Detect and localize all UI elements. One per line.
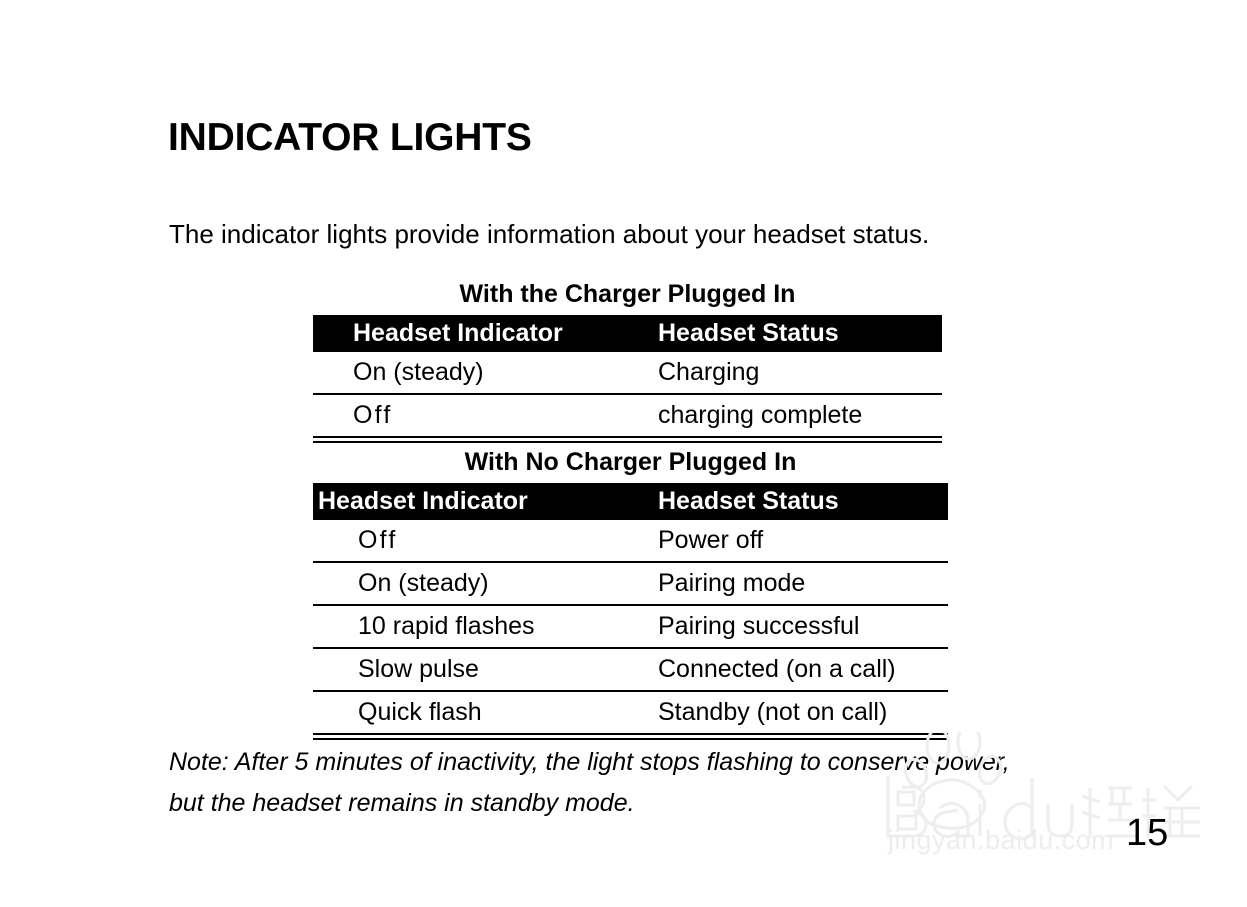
document-page: INDICATOR LIGHTS The indicator lights pr… [0, 0, 1247, 907]
table-caption: With No Charger Plugged In [313, 446, 948, 483]
cell-headset-status: Charging [658, 352, 942, 394]
cell-headset-indicator: On (steady) [313, 352, 658, 394]
table-caption: With the Charger Plugged In [313, 278, 942, 315]
table-bottom-rule [313, 733, 948, 740]
table-row: Off Power off [313, 520, 948, 562]
indicator-table: Headset Indicator Headset Status On (ste… [313, 315, 942, 437]
intro-paragraph: The indicator lights provide information… [169, 220, 929, 250]
page-number: 15 [1126, 814, 1168, 852]
indicator-table: Headset Indicator Headset Status Off Pow… [313, 483, 948, 734]
table-header-row: Headset Indicator Headset Status [313, 315, 942, 353]
table-row: Quick flash Standby (not on call) [313, 691, 948, 733]
column-header-headset-indicator: Headset Indicator [313, 315, 658, 353]
table-row: On (steady) Pairing mode [313, 562, 948, 605]
note-line-1: Note: After 5 minutes of inactivity, the… [169, 742, 1169, 783]
column-header-headset-status: Headset Status [658, 315, 942, 353]
table-row: On (steady) Charging [313, 352, 942, 394]
cell-headset-indicator: 10 rapid flashes [313, 605, 658, 648]
table-row: Off charging complete [313, 394, 942, 436]
cell-headset-status: Pairing successful [658, 605, 948, 648]
column-header-headset-indicator: Headset Indicator [313, 483, 658, 521]
cell-headset-indicator: Off [313, 394, 658, 436]
cell-headset-indicator: On (steady) [313, 562, 658, 605]
column-header-headset-status: Headset Status [658, 483, 948, 521]
page-title: INDICATOR LIGHTS [168, 118, 532, 159]
cell-headset-indicator: Off [313, 520, 658, 562]
watermark-url: jingyan.baidu.com [888, 825, 1114, 856]
cell-headset-status: Standby (not on call) [658, 691, 948, 733]
table-bottom-rule [313, 436, 942, 443]
note-block: Note: After 5 minutes of inactivity, the… [169, 742, 1169, 824]
cell-headset-indicator: Slow pulse [313, 648, 658, 691]
table-row: 10 rapid flashes Pairing successful [313, 605, 948, 648]
table-section-charger-plugged-in: With the Charger Plugged In Headset Indi… [313, 278, 942, 443]
table-header-row: Headset Indicator Headset Status [313, 483, 948, 521]
cell-headset-status: charging complete [658, 394, 942, 436]
table-row: Slow pulse Connected (on a call) [313, 648, 948, 691]
cell-headset-status: Pairing mode [658, 562, 948, 605]
cell-headset-status: Power off [658, 520, 948, 562]
note-line-2: but the headset remains in standby mode. [169, 783, 1169, 824]
cell-headset-status: Connected (on a call) [658, 648, 948, 691]
table-section-no-charger-plugged-in: With No Charger Plugged In Headset Indic… [313, 446, 948, 740]
cell-headset-indicator: Quick flash [313, 691, 658, 733]
